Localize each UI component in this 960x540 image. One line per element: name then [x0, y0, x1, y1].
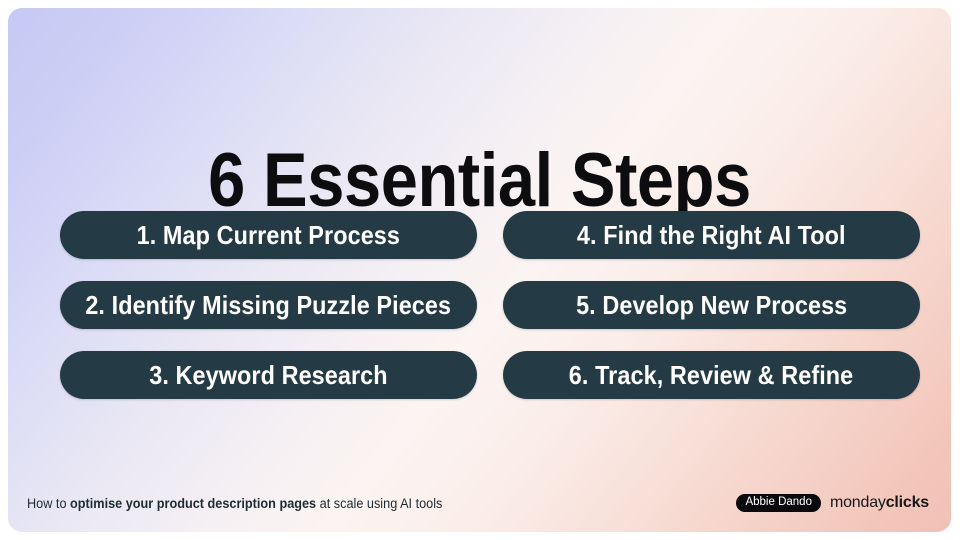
logo-bold-part: clicks [886, 494, 929, 511]
step-pill-label: 5. Develop New Process [576, 292, 847, 318]
slide-canvas: 6 Essential Steps 1. Map Current Process… [8, 8, 951, 532]
step-pill-1[interactable]: 1. Map Current Process [60, 211, 477, 259]
step-pill-2[interactable]: 2. Identify Missing Puzzle Pieces [60, 281, 477, 329]
steps-grid: 1. Map Current Process 4. Find the Right… [60, 211, 908, 399]
mondayclicks-logo: mondayclicks [830, 495, 929, 511]
step-pill-4[interactable]: 4. Find the Right AI Tool [503, 211, 920, 259]
step-pill-label: 2. Identify Missing Puzzle Pieces [86, 292, 452, 318]
author-badge: Abbie Dando [736, 494, 821, 513]
step-pill-label: 6. Track, Review & Refine [569, 362, 853, 388]
step-pill-label: 4. Find the Right AI Tool [577, 222, 846, 248]
caption-highlight: optimise your product description pages [70, 496, 316, 511]
step-pill-6[interactable]: 6. Track, Review & Refine [503, 351, 920, 399]
slide-root: 6 Essential Steps 1. Map Current Process… [0, 0, 960, 540]
caption-prefix: How to [27, 496, 70, 511]
step-pill-3[interactable]: 3. Keyword Research [60, 351, 477, 399]
brand-block: Abbie Dando mondayclicks [736, 494, 929, 513]
page-title: 6 Essential Steps [65, 143, 895, 219]
caption-suffix: at scale using AI tools [316, 496, 442, 511]
step-pill-label: 3. Keyword Research [149, 362, 387, 388]
step-pill-5[interactable]: 5. Develop New Process [503, 281, 920, 329]
step-pill-label: 1. Map Current Process [137, 222, 400, 248]
author-name: Abbie Dando [745, 497, 812, 509]
logo-light-part: monday [830, 494, 886, 511]
footer-caption: How to optimise your product description… [27, 497, 442, 511]
